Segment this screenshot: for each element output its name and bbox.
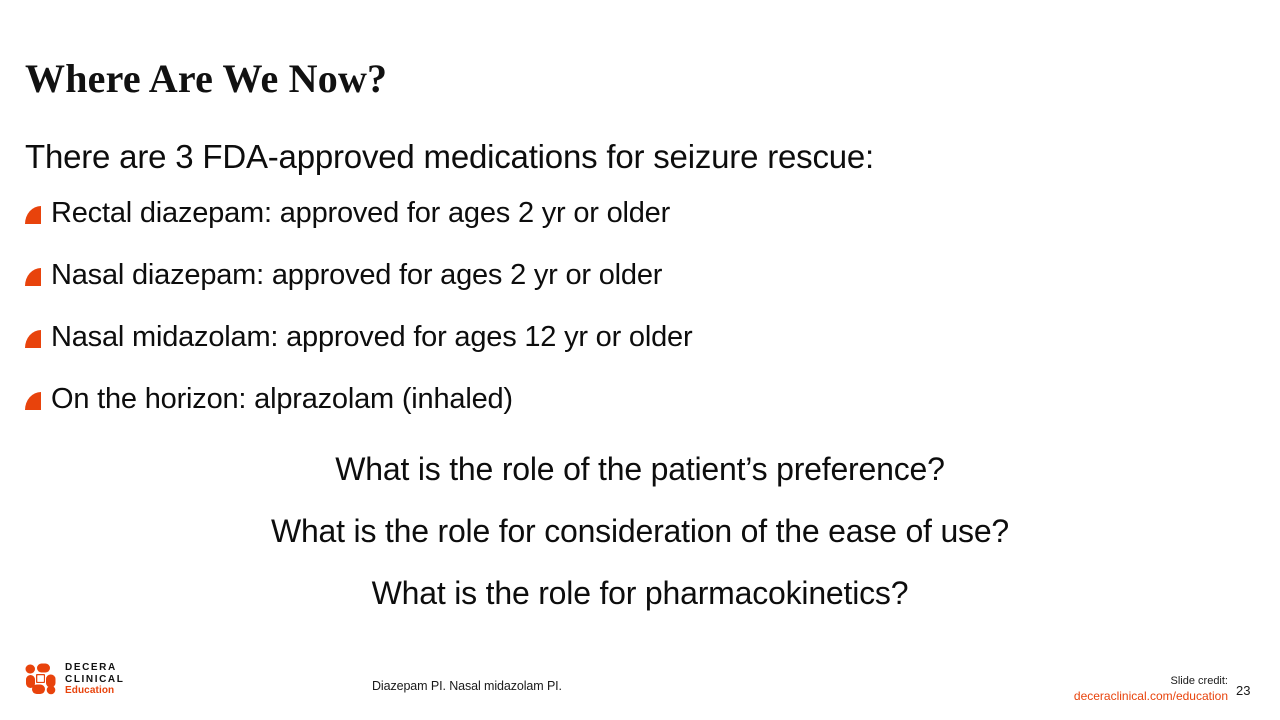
slide-credit: Slide credit: deceraclinical.com/educati… [1074,674,1228,704]
quarter-disc-bullet-icon [25,330,41,348]
list-item-label: On the horizon: alprazolam (inhaled) [51,383,513,415]
slide-credit-label: Slide credit: [1074,674,1228,689]
slide-body: There are 3 FDA-approved medications for… [25,132,1257,430]
logo-wordmark: DECERA CLINICAL Education [65,662,124,697]
slide-canvas: Where Are We Now? There are 3 FDA-approv… [0,0,1280,720]
list-item: Nasal diazepam: approved for ages 2 yr o… [25,244,1257,306]
footer-logo: DECERA CLINICAL Education [25,662,124,697]
quarter-disc-bullet-icon [25,392,41,410]
list-item: Rectal diazepam: approved for ages 2 yr … [25,182,1257,244]
slide-credit-url[interactable]: deceraclinical.com/education [1074,689,1228,704]
question-block: What is the role of the patient’s prefer… [0,438,1280,624]
lead-line: There are 3 FDA-approved medications for… [25,132,1257,182]
list-item-label: Rectal diazepam: approved for ages 2 yr … [51,197,670,229]
bullet-list: Rectal diazepam: approved for ages 2 yr … [25,182,1257,430]
page-number: 23 [1236,683,1260,698]
list-item: On the horizon: alprazolam (inhaled) [25,368,1257,430]
list-item: Nasal midazolam: approved for ages 12 yr… [25,306,1257,368]
question-line: What is the role of the patient’s prefer… [0,438,1280,500]
question-line: What is the role for consideration of th… [0,500,1280,562]
quarter-disc-bullet-icon [25,268,41,286]
list-item-label: Nasal diazepam: approved for ages 2 yr o… [51,259,662,291]
question-line: What is the role for pharmacokinetics? [0,562,1280,624]
slide-title: Where Are We Now? [25,55,387,103]
logo-line-education: Education [65,685,124,697]
logo-line-decera: DECERA [65,662,124,674]
list-item-label: Nasal midazolam: approved for ages 12 yr… [51,321,692,353]
quarter-disc-bullet-icon [25,206,41,224]
logo-line-clinical: CLINICAL [65,674,124,686]
decera-logo-mark-icon [25,663,57,695]
footer-citation: Diazepam PI. Nasal midazolam PI. [372,679,562,693]
